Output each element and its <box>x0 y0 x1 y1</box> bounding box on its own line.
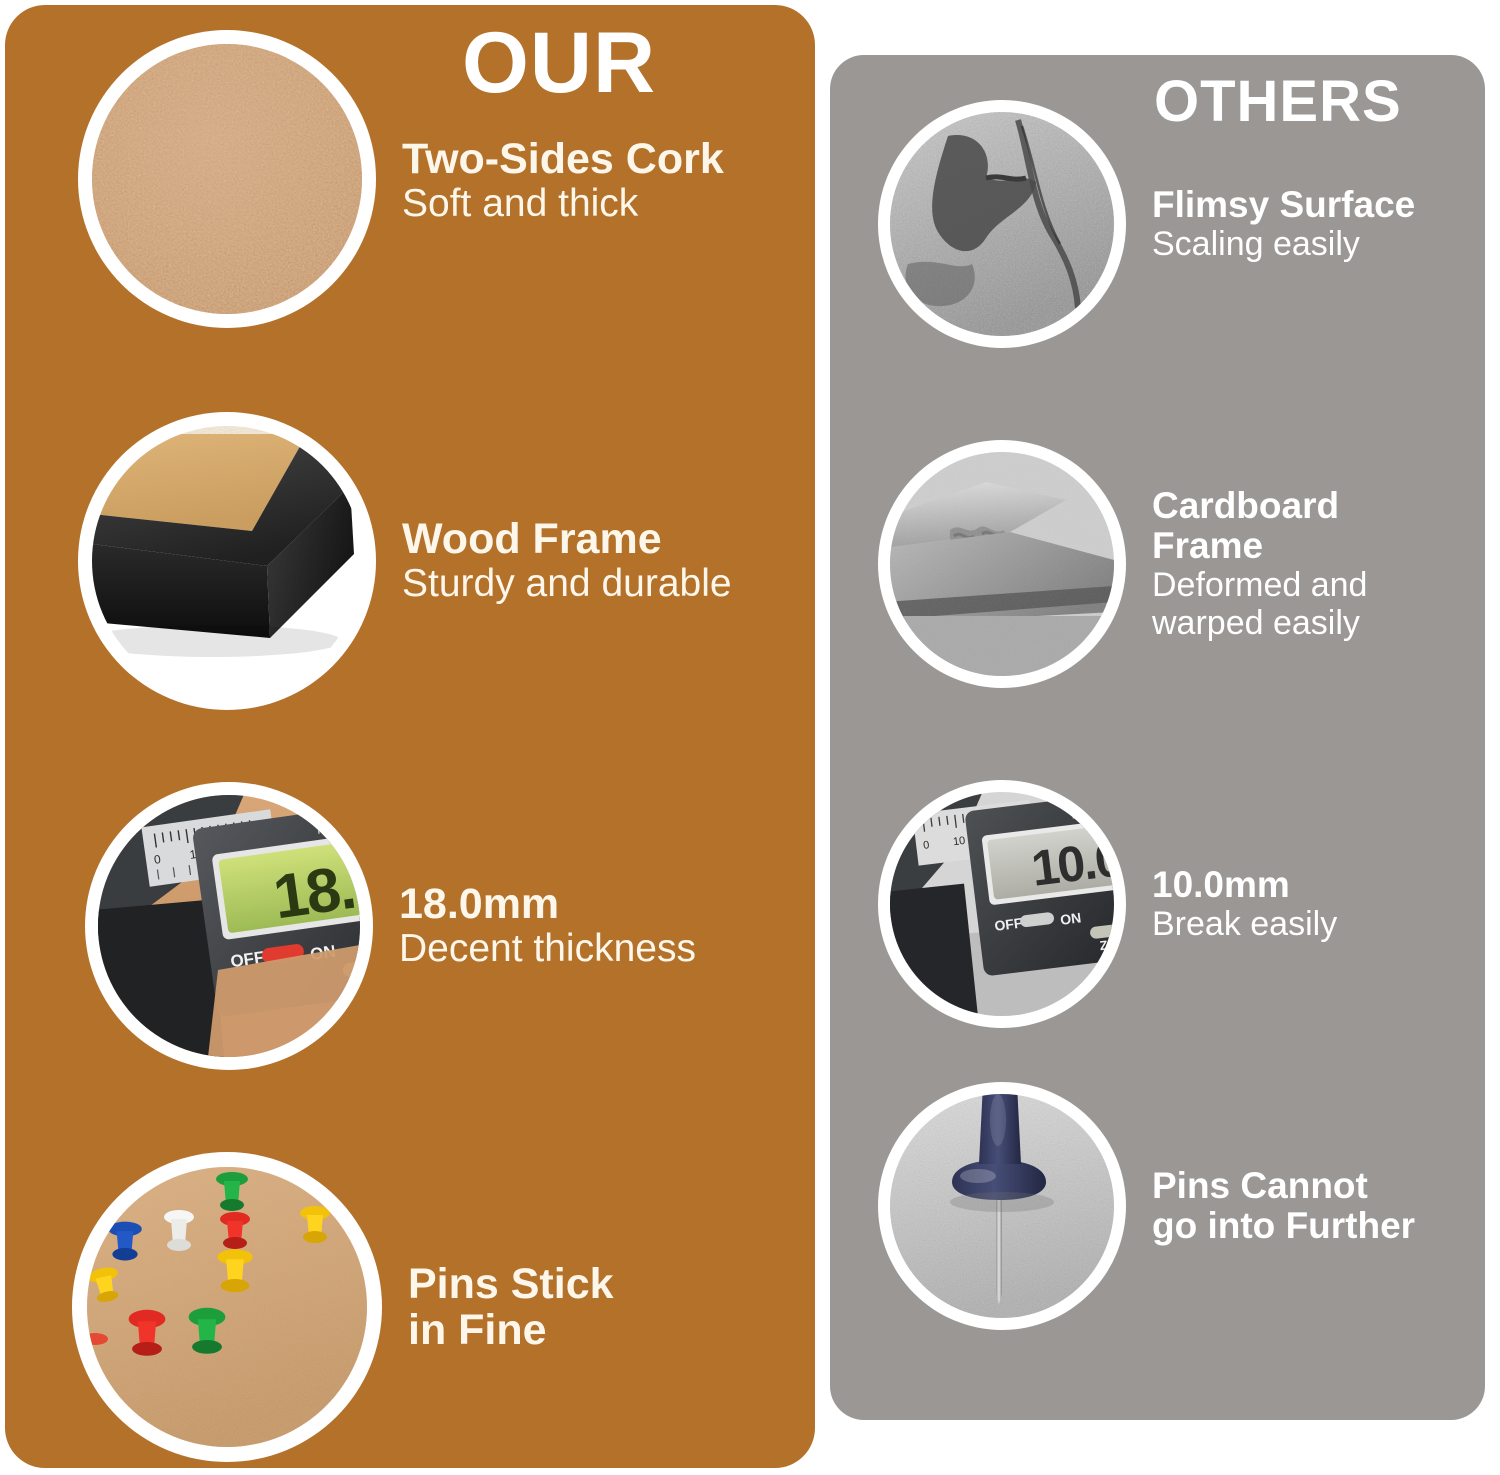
feature-row-our-pins: Pins Stick in Fine <box>72 1152 614 1462</box>
cardboard-frame-illustration <box>890 452 1114 676</box>
push-pins-in-cork-photo <box>72 1152 382 1462</box>
feature-subtitle: Scaling easily <box>1152 225 1415 263</box>
feature-texts: 10.0mm Break easily <box>1152 865 1337 943</box>
feature-row-others-surface: Flimsy Surface Scaling easily <box>878 100 1415 348</box>
feature-texts: Flimsy Surface Scaling easily <box>1152 185 1415 263</box>
feature-texts: Two-Sides Cork Soft and thick <box>402 136 724 226</box>
caliper-scale-tick-10: 10 <box>952 835 966 848</box>
feature-texts: Cardboard Frame Deformed and warped easi… <box>1152 486 1367 642</box>
pin-not-penetrating-surface-photo <box>878 1082 1126 1330</box>
feature-texts: Pins Stick in Fine <box>408 1261 614 1354</box>
caliper-grey-illustration: 0 10 10.0 mm/inch OFF ON ZER <box>890 792 1114 1016</box>
feature-title: Pins Stick in Fine <box>408 1261 614 1354</box>
feature-texts: Wood Frame Sturdy and durable <box>402 516 732 606</box>
feature-subtitle: Decent thickness <box>399 927 696 971</box>
feature-title: Wood Frame <box>402 516 732 562</box>
torn-cardboard-frame-photo <box>878 440 1126 688</box>
feature-subtitle: Soft and thick <box>402 182 724 226</box>
caliper-reading: 10.0 <box>1028 830 1114 896</box>
feature-row-others-pins: Pins Cannot go into Further <box>878 1082 1415 1330</box>
feature-title: Two-Sides Cork <box>402 136 724 182</box>
digital-caliper-18mm-photo: 0 10 18.0 mm/inch <box>85 782 373 1070</box>
caliper-zero-label: ZER <box>1099 935 1114 953</box>
cork-texture-illustration <box>92 44 362 314</box>
feature-row-our-thickness: 0 10 18.0 mm/inch <box>85 782 696 1070</box>
feature-row-others-thickness: 0 10 10.0 mm/inch OFF ON ZER <box>878 780 1337 1028</box>
cracked-surface-illustration <box>890 112 1114 336</box>
feature-texts: Pins Cannot go into Further <box>1152 1166 1415 1246</box>
feature-subtitle: Break easily <box>1152 905 1337 943</box>
caliper-on-label: ON <box>1059 909 1082 927</box>
cracked-flimsy-surface-photo <box>878 100 1126 348</box>
feature-title: Pins Cannot go into Further <box>1152 1166 1415 1246</box>
feature-title: Flimsy Surface <box>1152 185 1415 225</box>
feature-subtitle: Deformed and warped easily <box>1152 566 1367 642</box>
feature-row-others-frame: Cardboard Frame Deformed and warped easi… <box>878 440 1367 688</box>
feature-title: Cardboard Frame <box>1152 486 1367 566</box>
push-pins-illustration <box>87 1167 367 1447</box>
pin-blocked-illustration <box>890 1094 1114 1318</box>
caliper-illustration: 0 10 18.0 mm/inch <box>98 795 360 1057</box>
feature-title: 10.0mm <box>1152 865 1337 905</box>
feature-texts: 18.0mm Decent thickness <box>399 881 696 971</box>
feature-row-our-wood-frame: Wood Frame Sturdy and durable <box>78 412 732 710</box>
wood-frame-illustration <box>92 426 362 696</box>
feature-title: 18.0mm <box>399 881 696 927</box>
comparison-infographic: OUR <box>0 0 1500 1475</box>
digital-caliper-10mm-photo: 0 10 10.0 mm/inch OFF ON ZER <box>878 780 1126 1028</box>
feature-subtitle: Sturdy and durable <box>402 562 732 606</box>
black-wood-frame-corner-photo <box>78 412 376 710</box>
feature-row-our-cork: Two-Sides Cork Soft and thick <box>78 30 724 328</box>
cork-texture-photo <box>78 30 376 328</box>
